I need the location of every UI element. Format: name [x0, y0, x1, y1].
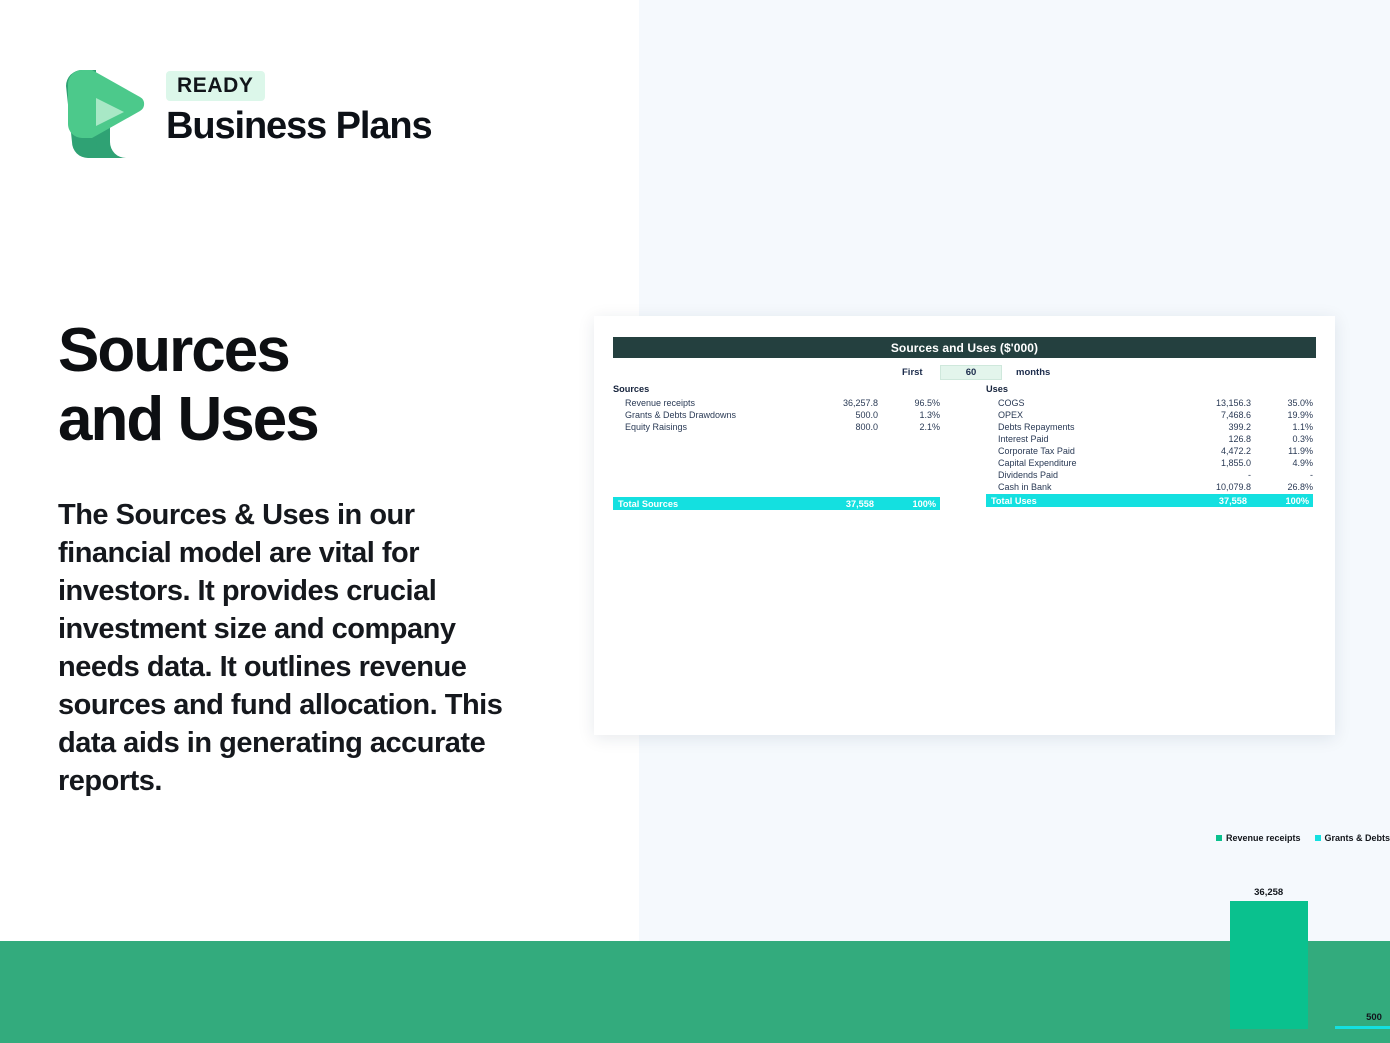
row-label: Dividends Paid [986, 469, 1173, 481]
play-triangle-logo-icon [58, 58, 148, 158]
legend-swatch-icon [1315, 835, 1321, 841]
chart-bar [1335, 1026, 1390, 1029]
row-amount: 399.2 [1173, 421, 1251, 433]
bar-value-label: 36,258 [1254, 887, 1283, 898]
row-amount: 36,257.8 [800, 397, 878, 409]
row-amount: 800.0 [800, 421, 878, 433]
row-percent: - [1251, 469, 1313, 481]
footer-band [0, 941, 1390, 1043]
row-percent: 4.9% [1251, 457, 1313, 469]
row-percent: 11.9% [1251, 445, 1313, 457]
page-title: Sourcesand Uses [58, 316, 598, 455]
brand-logo: READY Business Plans [58, 58, 432, 158]
chart-bar-slot: 500 [1321, 879, 1390, 1029]
table-row: Grants & Debts Drawdowns 500.0 1.3% [613, 409, 940, 421]
row-label: Cash in Bank [986, 481, 1173, 493]
row-label: Debts Repayments [986, 421, 1173, 433]
row-percent: 19.9% [1251, 409, 1313, 421]
table-row: COGS 13,156.3 35.0% [986, 397, 1313, 409]
sources-table-header: Sources [613, 384, 940, 397]
table-row: Interest Paid 126.8 0.3% [986, 433, 1313, 445]
row-percent: 1.1% [1251, 421, 1313, 433]
row-percent: 96.5% [878, 397, 940, 409]
row-percent: 26.8% [1251, 481, 1313, 493]
row-label: Grants & Debts Drawdowns [613, 409, 800, 421]
chart-bar [1230, 901, 1308, 1029]
period-prefix-label: First [902, 367, 923, 378]
legend-item: Grants & Debts Drawdowns [1315, 833, 1390, 843]
sources-table: Sources Revenue receipts 36,257.8 96.5% … [613, 384, 940, 433]
total-label: Total Sources [613, 499, 796, 509]
table-row: Revenue receipts 36,257.8 96.5% [613, 397, 940, 409]
total-percent: 100% [1247, 496, 1313, 506]
spreadsheet-card: Sources and Uses ($'000) First 60 months… [594, 316, 1335, 735]
legend-label: Grants & Debts Drawdowns [1325, 833, 1390, 843]
chart-bar-slot: 36,258 [1216, 879, 1321, 1029]
row-label: OPEX [986, 409, 1173, 421]
page-description: The Sources & Uses in our financial mode… [58, 497, 518, 801]
table-row: Cash in Bank 10,079.8 26.8% [986, 481, 1313, 493]
ready-badge: READY [166, 71, 265, 101]
row-label: Equity Raisings [613, 421, 800, 433]
table-row: OPEX 7,468.6 19.9% [986, 409, 1313, 421]
total-amount: 37,558 [796, 499, 874, 509]
brand-lockup-text: READY Business Plans [166, 71, 432, 145]
bar-value-label: 500 [1366, 1012, 1382, 1023]
row-percent: 35.0% [1251, 397, 1313, 409]
row-amount: 13,156.3 [1173, 397, 1251, 409]
row-amount: 500.0 [800, 409, 878, 421]
legend-label: Revenue receipts [1226, 833, 1301, 843]
period-suffix-label: months [1016, 367, 1050, 378]
legend-item: Revenue receipts [1216, 833, 1301, 843]
legend-swatch-icon [1216, 835, 1222, 841]
row-label: Corporate Tax Paid [986, 445, 1173, 457]
sources-chart-legend: Revenue receiptsGrants & Debts Drawdowns… [1216, 833, 1390, 843]
total-label: Total Uses [986, 496, 1169, 506]
row-label: Revenue receipts [613, 397, 800, 409]
row-amount: 4,472.2 [1173, 445, 1251, 457]
table-row: Debts Repayments 399.2 1.1% [986, 421, 1313, 433]
row-amount: 126.8 [1173, 433, 1251, 445]
table-row: Equity Raisings 800.0 2.1% [613, 421, 940, 433]
row-percent: 2.1% [878, 421, 940, 433]
uses-table: Uses COGS 13,156.3 35.0% OPEX 7,468.6 19… [986, 384, 1313, 507]
row-label: Interest Paid [986, 433, 1173, 445]
row-label: Capital Expenditure [986, 457, 1173, 469]
row-amount: - [1173, 469, 1251, 481]
sources-bar-chart: 36,258500800 [1216, 869, 1390, 1029]
months-input[interactable]: 60 [940, 365, 1002, 380]
uses-table-header: Uses [986, 384, 1313, 397]
table-row: Corporate Tax Paid 4,472.2 11.9% [986, 445, 1313, 457]
row-label: COGS [986, 397, 1173, 409]
sheet-title: Sources and Uses ($'000) [613, 337, 1316, 358]
row-amount: 10,079.8 [1173, 481, 1251, 493]
brand-name: Business Plans [166, 107, 432, 145]
table-row: Dividends Paid - - [986, 469, 1313, 481]
row-percent: 1.3% [878, 409, 940, 421]
sources-total-row: Total Sources 37,558 100% [613, 497, 940, 510]
total-amount: 37,558 [1169, 496, 1247, 506]
row-amount: 7,468.6 [1173, 409, 1251, 421]
total-percent: 100% [874, 499, 940, 509]
table-row: Capital Expenditure 1,855.0 4.9% [986, 457, 1313, 469]
row-amount: 1,855.0 [1173, 457, 1251, 469]
period-control: First 60 months [613, 364, 1316, 381]
uses-total-row: Total Uses 37,558 100% [986, 494, 1313, 507]
row-percent: 0.3% [1251, 433, 1313, 445]
